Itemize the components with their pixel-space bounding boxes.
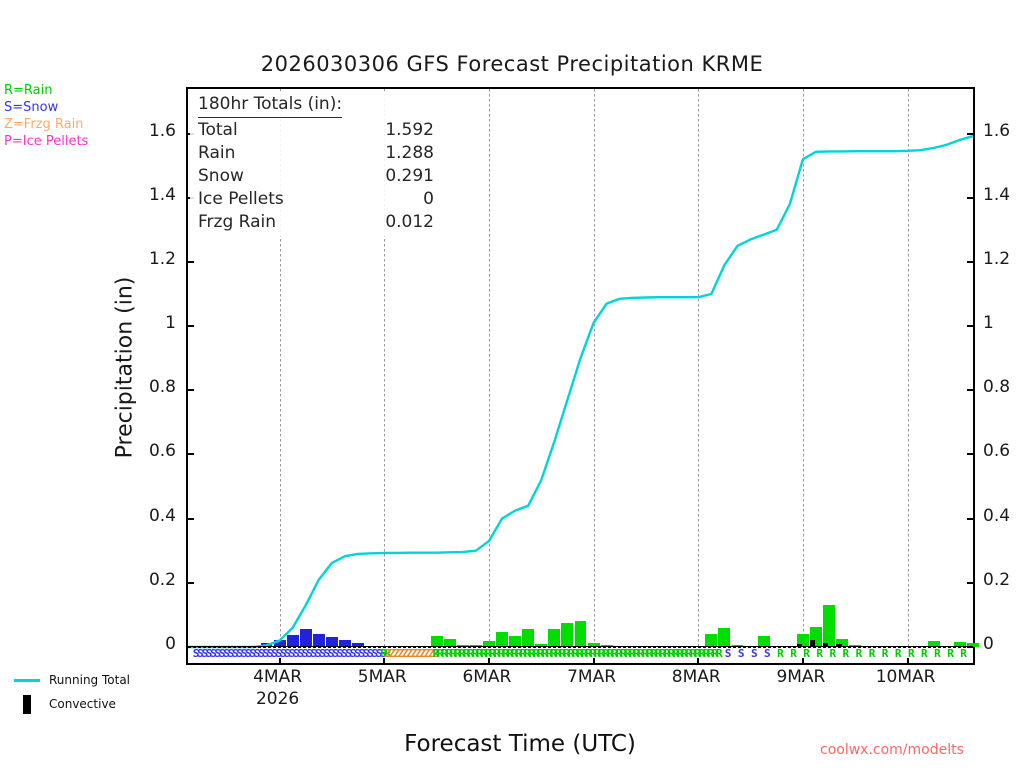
ptype-letter-r: R bbox=[882, 646, 889, 662]
ptype-letter-r: R bbox=[816, 646, 823, 662]
y-label-left-1: 0.2 bbox=[132, 570, 176, 590]
x-label-year: 2026 bbox=[223, 689, 333, 709]
y-tick-left-2 bbox=[188, 518, 194, 520]
ptype-letter-r: R bbox=[803, 646, 810, 662]
plot-area: SSSSSSSSSSSSSSSSSSSSSSSSSSSSSSSSSSSSSSSS… bbox=[186, 87, 975, 665]
x-label-8mar: 8MAR bbox=[641, 667, 751, 687]
legend-running-total-label: Running Total bbox=[49, 673, 130, 687]
y-label-left-5: 1 bbox=[132, 313, 176, 333]
totals-box: 180hr Totals (in): Total 1.592 Rain 1.28… bbox=[190, 91, 438, 236]
ptype-letter-r: R bbox=[843, 646, 850, 662]
totals-value-ice-pellets: 0 bbox=[423, 188, 434, 211]
y-tick-right-4 bbox=[967, 389, 973, 391]
y-label-left-7: 1.4 bbox=[132, 185, 176, 205]
y-label-left-4: 0.8 bbox=[132, 377, 176, 397]
gridline-day-6 bbox=[908, 89, 909, 647]
legend-rain: R=Rain bbox=[4, 82, 88, 99]
bar-rain-7 bbox=[522, 629, 534, 647]
y-tick-right-8 bbox=[967, 133, 973, 135]
totals-row-ice-pellets: Ice Pellets 0 bbox=[198, 188, 434, 211]
y-label-left-2: 0.4 bbox=[132, 506, 176, 526]
totals-label-snow: Snow bbox=[198, 165, 244, 188]
y-tick-right-6 bbox=[967, 261, 973, 263]
y-tick-left-1 bbox=[188, 582, 194, 584]
x-label-7mar: 7MAR bbox=[537, 667, 647, 687]
ptype-letter-r: R bbox=[869, 646, 876, 662]
legend-ice-pellets: P=Ice Pellets bbox=[4, 133, 88, 150]
totals-label-total: Total bbox=[198, 119, 238, 142]
y-label-left-3: 0.6 bbox=[132, 441, 176, 461]
convective-bar-icon bbox=[23, 695, 31, 714]
ptype-letter-s: S bbox=[738, 646, 745, 662]
x-axis-title: Forecast Time (UTC) bbox=[240, 731, 800, 757]
x-label-6mar: 6MAR bbox=[432, 667, 542, 687]
y-tick-right-5 bbox=[967, 325, 973, 327]
x-label-10mar: 10MAR bbox=[851, 667, 961, 687]
y-label-left-0: 0 bbox=[132, 634, 176, 654]
running-total-line-icon bbox=[14, 679, 40, 682]
ptype-letter-r: R bbox=[947, 646, 954, 662]
gridline-day-2 bbox=[489, 89, 490, 647]
ptype-letter-r: R bbox=[934, 646, 941, 662]
y-tick-left-3 bbox=[188, 453, 194, 455]
totals-row-freezing-rain: Frzg Rain 0.012 bbox=[198, 211, 434, 234]
gridline-day-3 bbox=[594, 89, 595, 647]
page-title: 2026030306 GFS Forecast Precipitation KR… bbox=[0, 52, 1024, 76]
x-label-4mar: 4MAR bbox=[223, 667, 333, 687]
ptype-letter-s: S bbox=[751, 646, 758, 662]
y-tick-right-1 bbox=[967, 582, 973, 584]
gridline-day-4 bbox=[698, 89, 699, 647]
y-label-right-2: 0.4 bbox=[983, 506, 1010, 526]
ptype-letter-s: S bbox=[725, 646, 732, 662]
bar-rain-30 bbox=[823, 605, 835, 647]
totals-header: 180hr Totals (in): bbox=[198, 93, 342, 118]
legend-convective-label: Convective bbox=[49, 697, 116, 711]
watermark: coolwx.com/modelts bbox=[820, 742, 964, 758]
x-label-9mar: 9MAR bbox=[746, 667, 856, 687]
bar-rain-22 bbox=[718, 628, 730, 647]
legend-running-total: Running Total bbox=[8, 668, 130, 692]
y-label-left-6: 1.2 bbox=[132, 249, 176, 269]
ptype-letter-r: R bbox=[790, 646, 797, 662]
y-tick-right-7 bbox=[967, 197, 973, 199]
totals-value-freezing-rain: 0.012 bbox=[385, 211, 434, 234]
ptype-letter-r: R bbox=[921, 646, 928, 662]
bar-snow-4 bbox=[300, 629, 312, 647]
gridline-day-5 bbox=[803, 89, 804, 647]
y-tick-left-5 bbox=[188, 325, 194, 327]
y-tick-left-4 bbox=[188, 389, 194, 391]
totals-label-ice-pellets: Ice Pellets bbox=[198, 188, 284, 211]
totals-value-snow: 0.291 bbox=[385, 165, 434, 188]
precip-type-legend: R=Rain S=Snow Z=Frzg Rain P=Ice Pellets bbox=[4, 82, 88, 150]
totals-value-rain: 1.288 bbox=[385, 142, 434, 165]
totals-row-total: Total 1.592 bbox=[198, 119, 434, 142]
ptype-letter-r: R bbox=[777, 646, 784, 662]
y-label-right-3: 0.6 bbox=[983, 441, 1010, 461]
ptype-letter-r: R bbox=[716, 646, 723, 662]
legend-snow: S=Snow bbox=[4, 99, 88, 116]
y-label-right-5: 1 bbox=[983, 313, 994, 333]
totals-label-freezing-rain: Frzg Rain bbox=[198, 211, 276, 234]
bar-rain-5 bbox=[496, 632, 508, 647]
y-tick-right-2 bbox=[967, 518, 973, 520]
y-label-right-8: 1.6 bbox=[983, 121, 1010, 141]
ptype-letter-r: R bbox=[829, 646, 836, 662]
y-label-right-7: 1.4 bbox=[983, 185, 1010, 205]
bar-rain-10 bbox=[561, 623, 573, 647]
totals-row-rain: Rain 1.288 bbox=[198, 142, 434, 165]
bar-rain-9 bbox=[548, 629, 560, 647]
legend-convective: Convective bbox=[8, 692, 130, 716]
totals-value-total: 1.592 bbox=[385, 119, 434, 142]
totals-row-snow: Snow 0.291 bbox=[198, 165, 434, 188]
y-label-left-8: 1.6 bbox=[132, 121, 176, 141]
legend-freezing-rain: Z=Frzg Rain bbox=[4, 116, 88, 133]
series-legend: Running Total Convective bbox=[8, 668, 130, 716]
y-tick-left-6 bbox=[188, 261, 194, 263]
ptype-letter-r: R bbox=[895, 646, 902, 662]
chart-page: 2026030306 GFS Forecast Precipitation KR… bbox=[0, 0, 1024, 768]
ptype-letter-r: R bbox=[960, 646, 967, 662]
totals-label-rain: Rain bbox=[198, 142, 235, 165]
ptype-letter-r: R bbox=[856, 646, 863, 662]
y-label-right-6: 1.2 bbox=[983, 249, 1010, 269]
bar-rain-11 bbox=[575, 621, 587, 647]
y-tick-right-3 bbox=[967, 453, 973, 455]
y-label-right-0: 0 bbox=[983, 634, 994, 654]
y-label-right-1: 0.2 bbox=[983, 570, 1010, 590]
x-label-5mar: 5MAR bbox=[327, 667, 437, 687]
strip-divider bbox=[188, 646, 973, 647]
ptype-letter-r: R bbox=[908, 646, 915, 662]
precip-type-strip: SSSSSSSSSSSSSSSSSSSSSSSSSSSSSSSSSSSSSSSS… bbox=[188, 647, 973, 663]
y-label-right-4: 0.8 bbox=[983, 377, 1010, 397]
ptype-letter-s: S bbox=[764, 646, 771, 662]
